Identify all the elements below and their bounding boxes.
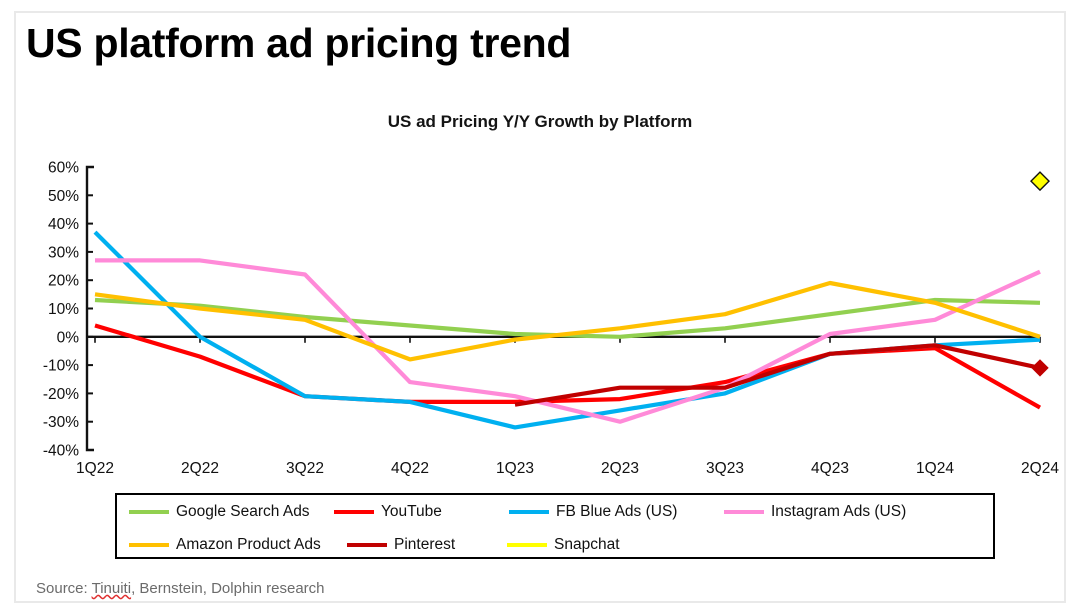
y-axis-tick-label: -20%: [43, 386, 79, 403]
source-prefix: Source:: [36, 580, 92, 597]
legend-color-swatch: [129, 510, 169, 514]
series-marker-diamond: [1031, 172, 1049, 190]
chart-title: US ad Pricing Y/Y Growth by Platform: [0, 112, 1080, 132]
x-axis-tick-label: 2Q24: [1021, 460, 1059, 477]
legend-item[interactable]: Google Search Ads: [129, 503, 334, 521]
y-axis-tick-label: 20%: [48, 273, 79, 290]
legend-label: Pinterest: [394, 536, 455, 554]
y-axis-tick-label: 0%: [57, 329, 80, 346]
y-axis-tick-label: 30%: [48, 244, 79, 261]
legend-label: FB Blue Ads (US): [556, 503, 677, 521]
legend-item[interactable]: Snapchat: [507, 536, 707, 554]
x-axis-tick-label: 4Q23: [811, 460, 849, 477]
legend-label: Google Search Ads: [176, 503, 310, 521]
legend-color-swatch: [507, 543, 547, 547]
y-axis-tick-label: -30%: [43, 414, 79, 431]
y-axis-tick-label: 60%: [48, 160, 79, 177]
series-line: [95, 300, 1040, 337]
legend-label: Instagram Ads (US): [771, 503, 906, 521]
legend-color-swatch: [334, 510, 374, 514]
y-axis-tick-label: 50%: [48, 188, 79, 205]
legend-row-2: Amazon Product AdsPinterestSnapchat: [117, 528, 993, 561]
x-axis-tick-label: 4Q22: [391, 460, 429, 477]
source-note: Source: Tinuiti, Bernstein, Dolphin rese…: [36, 580, 325, 597]
source-rest: , Bernstein, Dolphin research: [131, 580, 324, 597]
legend-label: Amazon Product Ads: [176, 536, 321, 554]
x-axis-tick-label: 3Q22: [286, 460, 324, 477]
legend-item[interactable]: Amazon Product Ads: [129, 536, 347, 554]
y-axis-tick-label: -40%: [43, 443, 79, 460]
legend-item[interactable]: Instagram Ads (US): [724, 503, 924, 521]
y-axis-tick-label: 10%: [48, 301, 79, 318]
legend-item[interactable]: Pinterest: [347, 536, 507, 554]
chart-legend: Google Search AdsYouTubeFB Blue Ads (US)…: [115, 493, 995, 559]
legend-item[interactable]: YouTube: [334, 503, 509, 521]
series-marker-diamond: [1032, 360, 1048, 376]
x-axis-tick-label: 1Q23: [496, 460, 534, 477]
source-flagged-word: Tinuiti: [92, 580, 131, 597]
x-axis-tick-label: 1Q24: [916, 460, 954, 477]
legend-color-swatch: [724, 510, 764, 514]
legend-color-swatch: [129, 543, 169, 547]
legend-item[interactable]: FB Blue Ads (US): [509, 503, 724, 521]
legend-row-1: Google Search AdsYouTubeFB Blue Ads (US)…: [117, 495, 993, 528]
x-axis-tick-label: 2Q22: [181, 460, 219, 477]
page-title: US platform ad pricing trend: [26, 20, 571, 67]
slide-canvas: US platform ad pricing trend US ad Prici…: [0, 0, 1080, 615]
y-axis-tick-label: -10%: [43, 358, 79, 375]
legend-color-swatch: [509, 510, 549, 514]
legend-label: YouTube: [381, 503, 442, 521]
x-axis-tick-label: 2Q23: [601, 460, 639, 477]
legend-label: Snapchat: [554, 536, 620, 554]
x-axis-tick-label: 3Q23: [706, 460, 744, 477]
x-axis-tick-label: 1Q22: [76, 460, 114, 477]
legend-color-swatch: [347, 543, 387, 547]
y-axis-tick-label: 40%: [48, 216, 79, 233]
